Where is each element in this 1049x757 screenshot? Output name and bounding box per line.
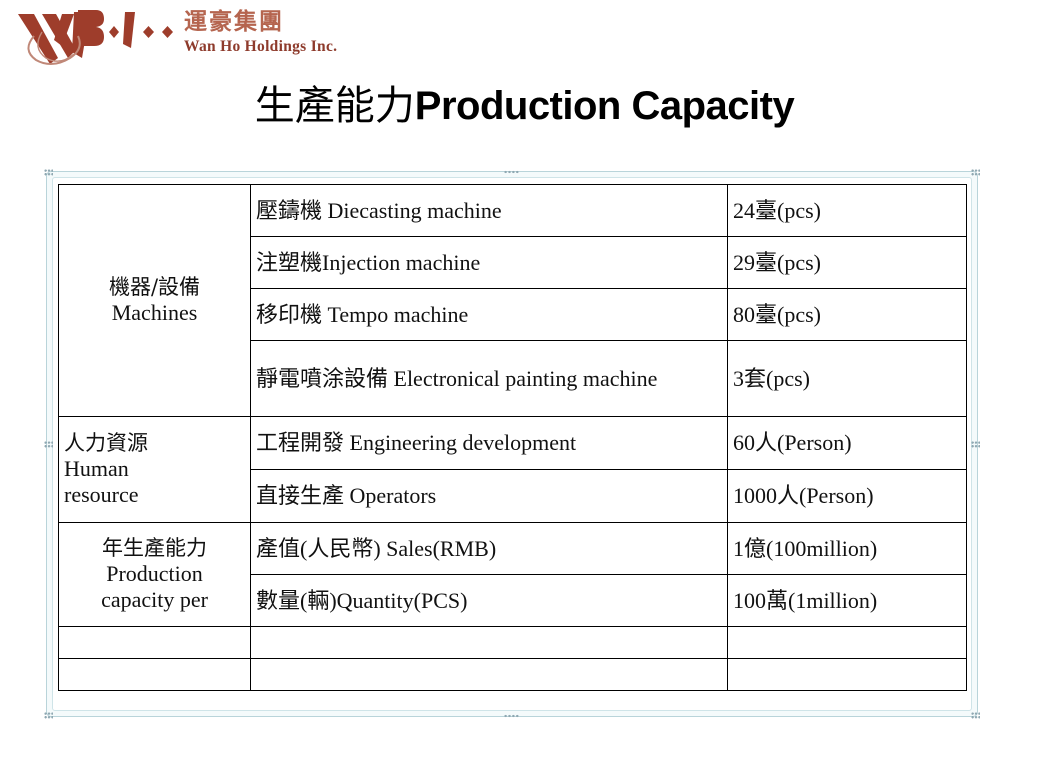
resize-handle-bottom-center[interactable] xyxy=(504,714,520,718)
resize-handle-top-right[interactable] xyxy=(971,169,980,176)
table-row[interactable]: 人力資源 Human resource 工程開發 Engineering dev… xyxy=(59,417,967,470)
table-row[interactable]: 機器/設備 Machines 壓鑄機 Diecasting machine 24… xyxy=(59,185,967,237)
resize-handle-middle-left[interactable] xyxy=(44,441,53,448)
category-machines-cn: 機器/設備 xyxy=(64,275,245,300)
resize-handle-bottom-right[interactable] xyxy=(971,712,980,719)
company-name-en: Wan Ho Holdings Inc. xyxy=(184,38,374,56)
cell-empty-1-1[interactable] xyxy=(59,627,251,659)
cell-item-operators[interactable]: 直接生產 Operators xyxy=(251,470,728,523)
cell-value-diecasting[interactable]: 24臺(pcs) xyxy=(728,185,967,237)
cell-item-diecasting[interactable]: 壓鑄機 Diecasting machine xyxy=(251,185,728,237)
production-capacity-table[interactable]: 機器/設備 Machines 壓鑄機 Diecasting machine 24… xyxy=(58,184,967,691)
cell-item-electronical-painting[interactable]: 靜電噴涂設備 Electronical painting machine xyxy=(251,341,728,417)
table-row-empty[interactable] xyxy=(59,659,967,691)
cell-value-operators[interactable]: 1000人(Person) xyxy=(728,470,967,523)
category-production-cn: 年生產能力 xyxy=(64,536,245,561)
cell-item-tempo[interactable]: 移印機 Tempo machine xyxy=(251,289,728,341)
table-row-empty[interactable] xyxy=(59,627,967,659)
cell-empty-2-1[interactable] xyxy=(59,659,251,691)
cell-value-tempo[interactable]: 80臺(pcs) xyxy=(728,289,967,341)
resize-handle-top-left[interactable] xyxy=(44,169,53,176)
cell-empty-2-2[interactable] xyxy=(251,659,728,691)
page-title: 生產能力Production Capacity xyxy=(0,86,1049,126)
cell-item-injection[interactable]: 注塑機Injection machine xyxy=(251,237,728,289)
resize-handle-middle-right[interactable] xyxy=(971,441,980,448)
cell-item-sales[interactable]: 產值(人民幣) Sales(RMB) xyxy=(251,523,728,575)
cell-value-engineering-development[interactable]: 60人(Person) xyxy=(728,417,967,470)
category-production-en-line1: Production xyxy=(64,561,245,587)
cell-empty-2-3[interactable] xyxy=(728,659,967,691)
cell-category-human-resource[interactable]: 人力資源 Human resource xyxy=(59,417,251,523)
page-title-cn: 生產能力 xyxy=(255,83,415,129)
cell-item-engineering-development[interactable]: 工程開發 Engineering development xyxy=(251,417,728,470)
cell-value-sales[interactable]: 1億(100million) xyxy=(728,523,967,575)
brand-header: 運豪集團 Wan Ho Holdings Inc. xyxy=(12,4,372,70)
company-name-cn: 運豪集團 xyxy=(184,10,374,34)
cell-value-electronical-painting[interactable]: 3套(pcs) xyxy=(728,341,967,417)
cell-value-quantity[interactable]: 100萬(1million) xyxy=(728,575,967,627)
category-human-cn: 人力資源 xyxy=(64,431,245,456)
category-machines-en: Machines xyxy=(64,300,245,326)
cell-item-quantity[interactable]: 數量(輛)Quantity(PCS) xyxy=(251,575,728,627)
cell-category-machines[interactable]: 機器/設備 Machines xyxy=(59,185,251,417)
resize-handle-bottom-left[interactable] xyxy=(44,712,53,719)
cell-empty-1-2[interactable] xyxy=(251,627,728,659)
wan-ho-logo-mark xyxy=(12,6,174,68)
brand-name-block: 運豪集團 Wan Ho Holdings Inc. xyxy=(184,10,374,56)
category-human-en-line2: resource xyxy=(64,482,245,508)
cell-empty-1-3[interactable] xyxy=(728,627,967,659)
category-human-en-line1: Human xyxy=(64,456,245,482)
cell-value-injection[interactable]: 29臺(pcs) xyxy=(728,237,967,289)
category-production-en-line2: capacity per xyxy=(64,587,245,613)
table-row[interactable]: 年生產能力 Production capacity per 產值(人民幣) Sa… xyxy=(59,523,967,575)
resize-handle-top-center[interactable] xyxy=(504,170,520,174)
page-title-en: Production Capacity xyxy=(415,84,794,128)
cell-category-production-capacity[interactable]: 年生產能力 Production capacity per xyxy=(59,523,251,627)
